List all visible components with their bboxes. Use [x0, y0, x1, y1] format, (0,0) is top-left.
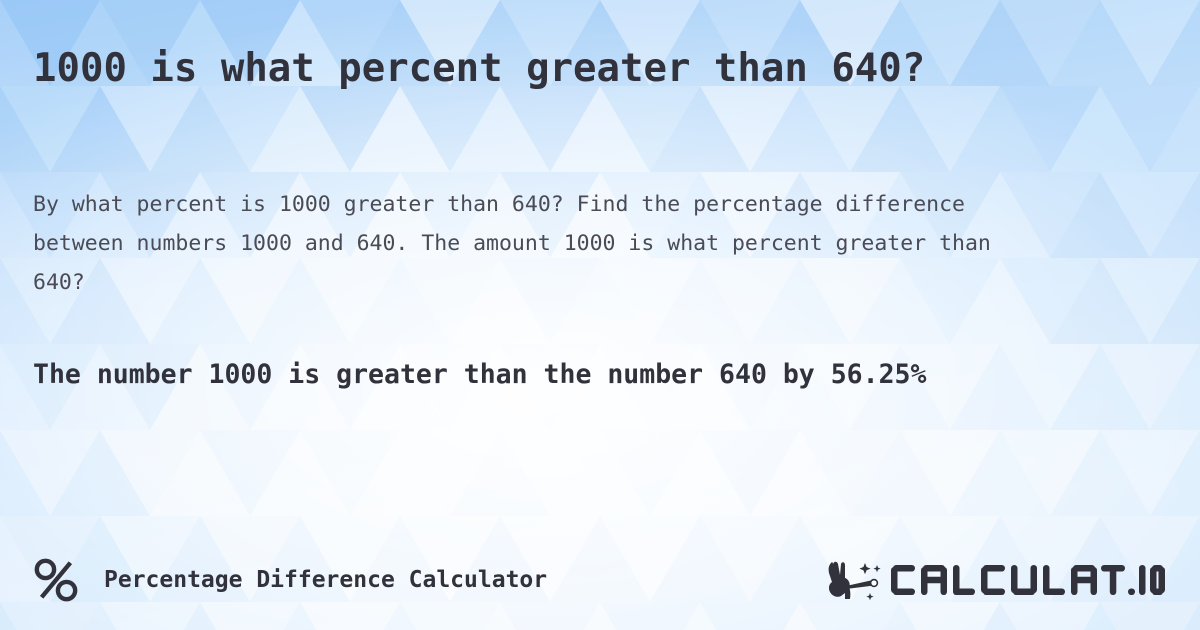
- calculatio-wordmark: [891, 565, 1165, 595]
- calculatio-logo[interactable]: [825, 555, 1165, 605]
- brand-logo-group[interactable]: [825, 555, 1165, 605]
- percent-icon: [33, 557, 79, 603]
- answer-statement: The number 1000 is greater than the numb…: [33, 353, 1173, 397]
- footer: Percentage Difference Calculator: [0, 545, 1200, 615]
- page-root: 1000 is what percent greater than 640? B…: [0, 0, 1200, 630]
- page-title: 1000 is what percent greater than 640?: [33, 42, 1163, 95]
- content-area: 1000 is what percent greater than 640? B…: [0, 0, 1200, 630]
- footer-title: Percentage Difference Calculator: [104, 567, 547, 593]
- description-paragraph: By what percent is 1000 greater than 640…: [33, 185, 1033, 302]
- footer-brand-left: Percentage Difference Calculator: [33, 557, 547, 603]
- magic-wand-hand-icon: [829, 562, 881, 600]
